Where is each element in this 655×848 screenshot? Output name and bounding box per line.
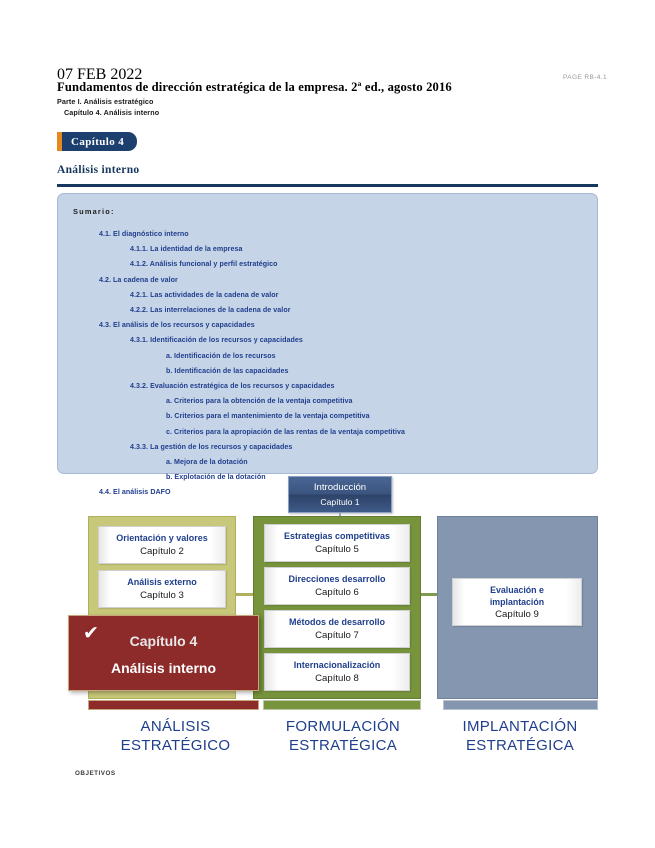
summary-item: a. Mejora de la dotación bbox=[58, 455, 597, 470]
phase-label-line1: IMPLANTACIÓN bbox=[435, 717, 605, 736]
summary-list: 4.1. El diagnóstico interno4.1.1. La ide… bbox=[58, 227, 597, 501]
page-footer: OBJETIVOS bbox=[75, 770, 116, 777]
summary-item: 4.2. La cadena de valor bbox=[58, 273, 597, 288]
header-page-reference: PAGE RB-4.1 bbox=[563, 74, 607, 81]
connector-left-to-mid bbox=[236, 593, 254, 596]
column-formulacion-estrategica: Estrategias competitivas Capítulo 5 Dire… bbox=[253, 516, 421, 699]
summary-item: 4.2.1. Las actividades de la cadena de v… bbox=[58, 288, 597, 303]
box-chapter: Capítulo 3 bbox=[99, 589, 225, 603]
book-title: Fundamentos de dirección estratégica de … bbox=[57, 80, 452, 95]
box-chapter: Capítulo 8 bbox=[265, 672, 409, 686]
diagram-box-capitulo-8[interactable]: Internacionalización Capítulo 8 bbox=[264, 653, 410, 691]
part-subtitle: Parte I. Análisis estratégico bbox=[57, 97, 154, 106]
diagram-box-capitulo-9[interactable]: Evaluación e implantación Capítulo 9 bbox=[452, 578, 582, 626]
phase-label-analisis: ANÁLISIS ESTRATÉGICO bbox=[88, 717, 263, 755]
phase-bar-formulacion bbox=[263, 700, 421, 710]
column-implantacion-estrategica: Evaluación e implantación Capítulo 9 bbox=[437, 516, 598, 699]
box-chapter: Capítulo 9 bbox=[453, 608, 581, 622]
box-title: Internacionalización bbox=[265, 654, 409, 672]
summary-item: c. Criterios para la apropiación de las … bbox=[58, 425, 597, 440]
box-title-line1: Evaluación e bbox=[453, 579, 581, 596]
intro-title: Introducción bbox=[289, 481, 391, 495]
badge-label: Capítulo 4 bbox=[62, 132, 137, 151]
phase-label-line2: ESTRATÉGICO bbox=[88, 736, 263, 755]
box-title: Direcciones desarrollo bbox=[265, 568, 409, 586]
summary-item: b. Criterios para el mantenimiento de la… bbox=[58, 409, 597, 424]
box-title: Orientación y valores bbox=[99, 527, 225, 545]
box-title: Estrategias competitivas bbox=[265, 525, 409, 543]
chapter-subtitle: Capítulo 4. Análisis interno bbox=[64, 108, 159, 117]
summary-item: 4.2.2. Las interrelaciones de la cadena … bbox=[58, 303, 597, 318]
summary-item: 4.1.2. Análisis funcional y perfil estra… bbox=[58, 257, 597, 272]
summary-item: 4.1. El diagnóstico interno bbox=[58, 227, 597, 242]
box-chapter: Capítulo 6 bbox=[265, 586, 409, 600]
title-divider bbox=[57, 184, 598, 187]
box-chapter: Capítulo 2 bbox=[99, 545, 225, 559]
intro-chapter: Capítulo 1 bbox=[289, 495, 391, 509]
highlight-title: Análisis interno bbox=[69, 660, 258, 676]
box-chapter: Capítulo 7 bbox=[265, 629, 409, 643]
summary-item: a. Criterios para la obtención de la ven… bbox=[58, 394, 597, 409]
summary-item: 4.3.1. Identificación de los recursos y … bbox=[58, 333, 597, 348]
chapter-badge: Capítulo 4 bbox=[57, 132, 137, 151]
phase-label-formulacion: FORMULACIÓN ESTRATÉGICA bbox=[258, 717, 428, 755]
phase-label-line1: FORMULACIÓN bbox=[258, 717, 428, 736]
phase-label-line2: ESTRATÉGICA bbox=[435, 736, 605, 755]
summary-item: 4.1.1. La identidad de la empresa bbox=[58, 242, 597, 257]
diagram-intro-box: Introducción Capítulo 1 bbox=[288, 476, 392, 513]
diagram-box-capitulo-3[interactable]: Análisis externo Capítulo 3 bbox=[98, 570, 226, 608]
summary-item: 4.3.3. La gestión de los recursos y capa… bbox=[58, 440, 597, 455]
page-title: Análisis interno bbox=[57, 164, 139, 176]
phase-label-implantacion: IMPLANTACIÓN ESTRATÉGICA bbox=[435, 717, 605, 755]
diagram-box-capitulo-5[interactable]: Estrategias competitivas Capítulo 5 bbox=[264, 524, 410, 562]
phase-bar-implantacion bbox=[443, 700, 598, 710]
box-chapter: Capítulo 5 bbox=[265, 543, 409, 557]
diagram-box-capitulo-6[interactable]: Direcciones desarrollo Capítulo 6 bbox=[264, 567, 410, 605]
box-title-line2: implantación bbox=[453, 596, 581, 608]
summary-item: a. Identificación de los recursos bbox=[58, 349, 597, 364]
phase-bar-analisis bbox=[88, 700, 259, 710]
summary-item: 4.3.2. Evaluación estratégica de los rec… bbox=[58, 379, 597, 394]
highlight-chapter: Capítulo 4 bbox=[69, 633, 258, 649]
summary-label: Sumario: bbox=[73, 207, 115, 216]
phase-label-line2: ESTRATÉGICA bbox=[258, 736, 428, 755]
document-page: 07 FEB 2022 PAGE RB-4.1 Fundamentos de d… bbox=[0, 0, 655, 848]
phase-label-line1: ANÁLISIS bbox=[88, 717, 263, 736]
summary-item: 4.3. El análisis de los recursos y capac… bbox=[58, 318, 597, 333]
diagram-box-capitulo-4-highlighted[interactable]: ✔ Capítulo 4 Análisis interno bbox=[68, 615, 259, 691]
diagram-box-capitulo-7[interactable]: Métodos de desarrollo Capítulo 7 bbox=[264, 610, 410, 648]
diagram-box-capitulo-2[interactable]: Orientación y valores Capítulo 2 bbox=[98, 526, 226, 564]
strategy-process-diagram: Introducción Capítulo 1 Orientación y va… bbox=[0, 473, 655, 763]
box-title: Métodos de desarrollo bbox=[265, 611, 409, 629]
summary-panel: Sumario: 4.1. El diagnóstico interno4.1.… bbox=[57, 193, 598, 474]
box-title: Análisis externo bbox=[99, 571, 225, 589]
summary-item: b. Identificación de las capacidades bbox=[58, 364, 597, 379]
